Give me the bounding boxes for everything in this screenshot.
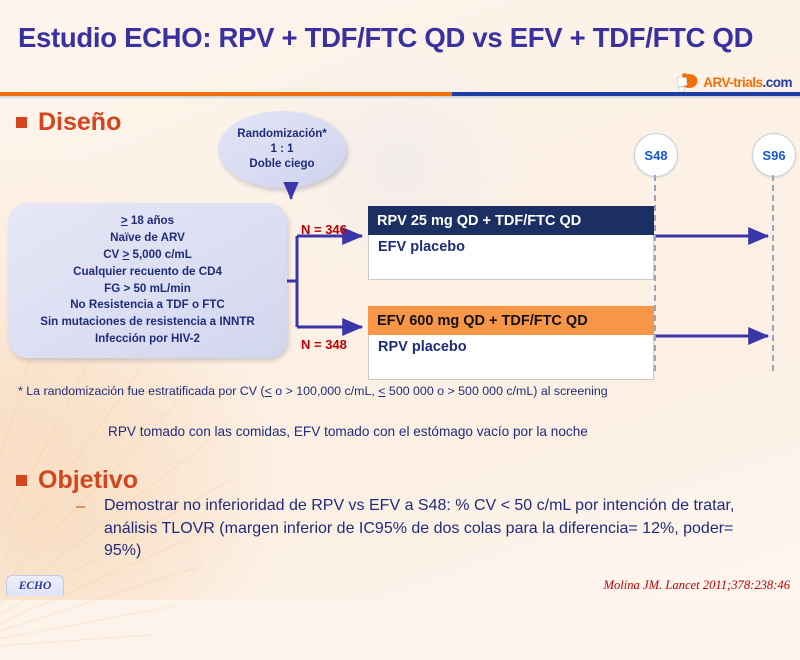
- citation: Molina JM. Lancet 2011;378:238:46: [603, 578, 790, 593]
- section-heading-objetivo: Objetivo: [16, 466, 138, 495]
- criteria-item: Sin mutaciones de resistencia a INNTR: [40, 314, 255, 331]
- objective-text: Demostrar no inferioridad de RPV vs EFV …: [104, 495, 770, 563]
- footnote-stratification: * La randomización fue estratificada por…: [18, 384, 608, 398]
- section-label-diseno: Diseño: [38, 108, 121, 137]
- arv-trials-logo: ARV-trials .com: [673, 71, 792, 93]
- criteria-item: Cualquier recuento de CD4: [73, 264, 222, 281]
- criteria-item: > 18 años: [121, 213, 174, 230]
- section-label-objetivo: Objetivo: [38, 466, 138, 495]
- criteria-item: No Resistencia a TDF o FTC: [70, 297, 225, 314]
- arm-1-regimen-bar: RPV 25 mg QD + TDF/FTC QD: [368, 206, 654, 235]
- bullet-square-icon: [16, 117, 27, 128]
- logo-text: ARV-trials: [703, 75, 762, 90]
- timepoint-s48-guideline: [654, 175, 656, 371]
- randomization-line-1: Randomización*: [237, 127, 326, 142]
- arm-1-placebo-box: EFV placebo: [368, 235, 654, 280]
- objective-bullet-dash: –: [76, 498, 85, 516]
- arm-1-sample-size: N = 346: [301, 222, 347, 237]
- slide-title: Estudio ECHO: RPV + TDF/FTC QD vs EFV + …: [18, 22, 788, 54]
- slide-canvas: Estudio ECHO: RPV + TDF/FTC QD vs EFV + …: [0, 0, 800, 600]
- arm-2-regimen-bar: EFV 600 mg QD + TDF/FTC QD: [368, 306, 654, 335]
- inclusion-criteria-box: > 18 años Naïve de ARV CV > 5,000 c/mL C…: [8, 203, 287, 358]
- criteria-item: Naïve de ARV: [110, 230, 185, 247]
- footnote-dosing: RPV tomado con las comidas, EFV tomado c…: [108, 424, 588, 439]
- header-rule-grey: [0, 96, 800, 99]
- bullet-square-icon: [16, 475, 27, 486]
- timepoint-s48: S48: [634, 133, 678, 177]
- study-tab-echo[interactable]: ECHO: [6, 575, 64, 596]
- randomization-line-3: Doble ciego: [249, 157, 314, 172]
- randomization-node: Randomización* 1 : 1 Doble ciego: [218, 111, 346, 188]
- arm-2-sample-size: N = 348: [301, 337, 347, 352]
- logo-suffix: .com: [762, 75, 792, 90]
- criteria-item: CV > 5,000 c/mL: [103, 247, 192, 264]
- timepoint-s96: S96: [752, 133, 796, 177]
- timepoint-s96-guideline: [772, 175, 774, 371]
- randomization-line-2: 1 : 1: [270, 142, 293, 157]
- pill-bottle-icon: [673, 72, 703, 93]
- criteria-item: Infección por HIV-2: [95, 331, 200, 348]
- criteria-item: FG > 50 mL/min: [104, 281, 191, 298]
- section-heading-diseno: Diseño: [16, 108, 121, 137]
- arm-2-placebo-box: RPV placebo: [368, 335, 654, 380]
